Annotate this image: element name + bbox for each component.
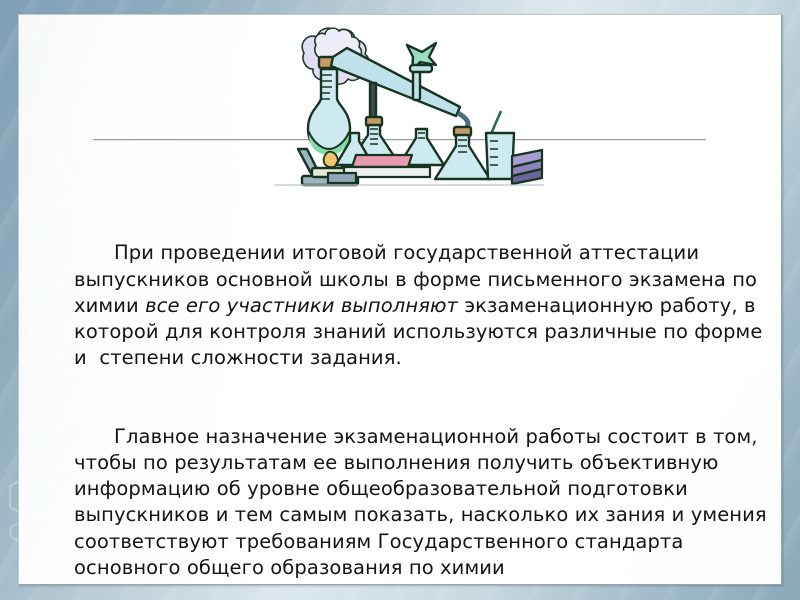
content-panel: H C N N CH (18, 14, 782, 585)
paragraph-2: Главное назначение экзаменационной работ… (74, 424, 774, 581)
paragraph-1-emphasis: все его участники выполняют (145, 294, 458, 317)
chemistry-lab-clipart (274, 21, 544, 193)
slide-canvas: H C CH O N H C (0, 0, 800, 600)
svg-text:C: C (45, 187, 60, 211)
slide-body-text: При проведении итоговой государственной … (74, 188, 774, 585)
paragraph-1: При проведении итоговой государственной … (74, 240, 774, 371)
svg-text:H: H (23, 178, 39, 202)
